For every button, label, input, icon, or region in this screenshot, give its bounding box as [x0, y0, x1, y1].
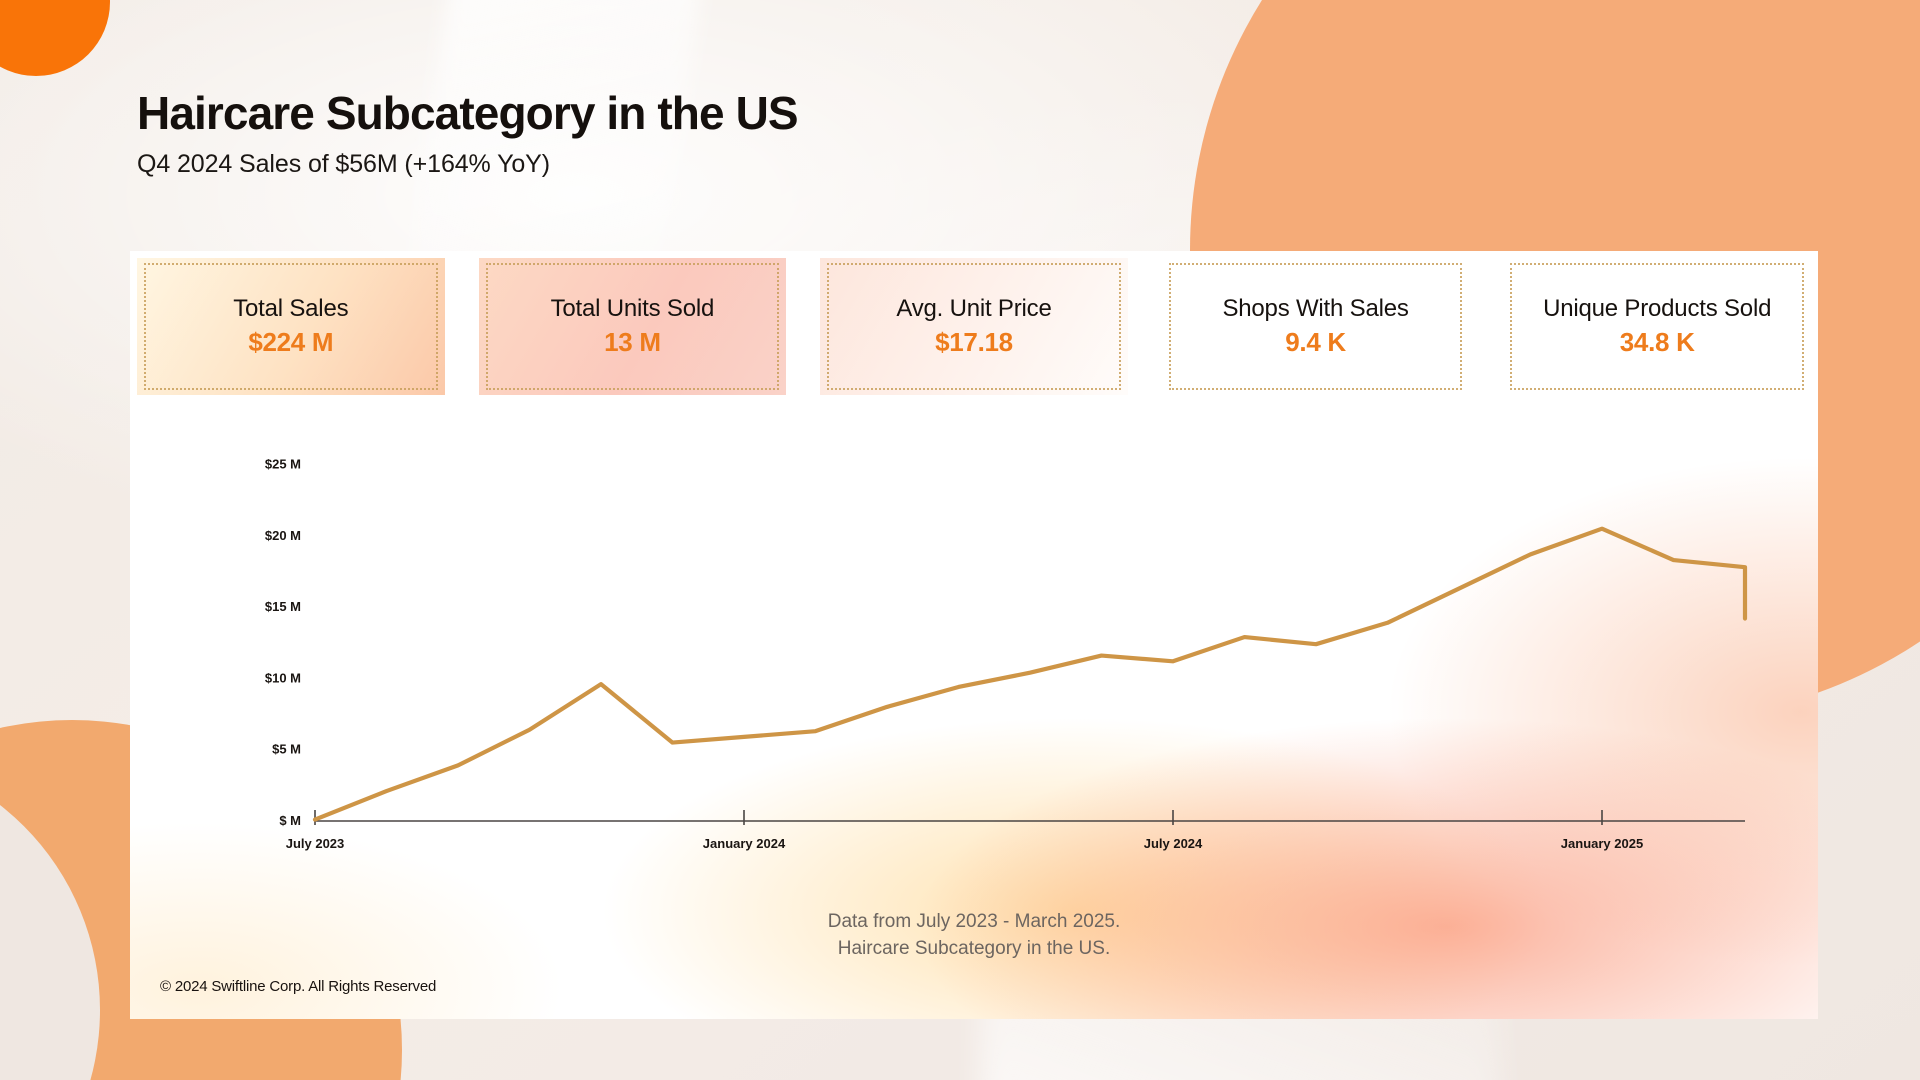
- x-axis-tick-label: January 2024: [703, 836, 786, 851]
- kpi-card-shops-with-sales[interactable]: Shops With Sales 9.4 K: [1162, 258, 1470, 395]
- kpi-value: $224 M: [248, 327, 333, 358]
- kpi-card-total-sales[interactable]: Total Sales $224 M: [137, 258, 445, 395]
- caption-line-2: Haircare Subcategory in the US.: [130, 936, 1818, 963]
- kpi-label: Shops With Sales: [1222, 295, 1408, 323]
- kpi-strip: Total Sales $224 M Total Units Sold 13 M…: [130, 251, 1818, 395]
- sales-line-chart: $ M$5 M$10 M$15 M$20 M$25 M July 2023Jan…: [130, 401, 1818, 961]
- x-axis-tick-label: January 2025: [1561, 836, 1643, 851]
- y-axis-tick-label: $ M: [279, 813, 301, 828]
- chart-caption: Data from July 2023 - March 2025. Hairca…: [130, 909, 1818, 963]
- kpi-card-avg-unit-price[interactable]: Avg. Unit Price $17.18: [820, 258, 1128, 395]
- header: Haircare Subcategory in the US Q4 2024 S…: [137, 88, 798, 179]
- y-axis-tick-label: $5 M: [272, 742, 301, 757]
- kpi-card-total-units-sold[interactable]: Total Units Sold 13 M: [479, 258, 787, 395]
- kpi-value: 34.8 K: [1620, 327, 1695, 358]
- x-axis-tick-labels: July 2023January 2024July 2024January 20…: [286, 810, 1643, 851]
- kpi-value: 9.4 K: [1285, 327, 1346, 358]
- kpi-value: $17.18: [935, 327, 1013, 358]
- sales-series-line: [315, 529, 1745, 820]
- kpi-label: Unique Products Sold: [1543, 295, 1771, 323]
- kpi-label: Total Sales: [233, 295, 348, 323]
- kpi-label: Avg. Unit Price: [896, 295, 1051, 323]
- page-title: Haircare Subcategory in the US: [137, 88, 798, 140]
- dashboard-panel: Total Sales $224 M Total Units Sold 13 M…: [130, 251, 1818, 1019]
- y-axis-tick-label: $10 M: [265, 670, 301, 685]
- x-axis-tick-label: July 2023: [286, 836, 345, 851]
- chart-svg: $ M$5 M$10 M$15 M$20 M$25 M July 2023Jan…: [130, 401, 1818, 961]
- caption-line-1: Data from July 2023 - March 2025.: [130, 909, 1818, 936]
- kpi-card-unique-products-sold[interactable]: Unique Products Sold 34.8 K: [1503, 258, 1811, 395]
- page-subtitle: Q4 2024 Sales of $56M (+164% YoY): [137, 150, 798, 179]
- y-axis-tick-label: $15 M: [265, 599, 301, 614]
- y-axis-tick-label: $25 M: [265, 457, 301, 472]
- kpi-label: Total Units Sold: [551, 295, 715, 323]
- y-axis-tick-label: $20 M: [265, 528, 301, 543]
- kpi-value: 13 M: [604, 327, 661, 358]
- x-axis-tick-label: July 2024: [1144, 836, 1203, 851]
- copyright-notice: © 2024 Swiftline Corp. All Rights Reserv…: [160, 978, 436, 995]
- y-axis-tick-labels: $ M$5 M$10 M$15 M$20 M$25 M: [265, 457, 315, 828]
